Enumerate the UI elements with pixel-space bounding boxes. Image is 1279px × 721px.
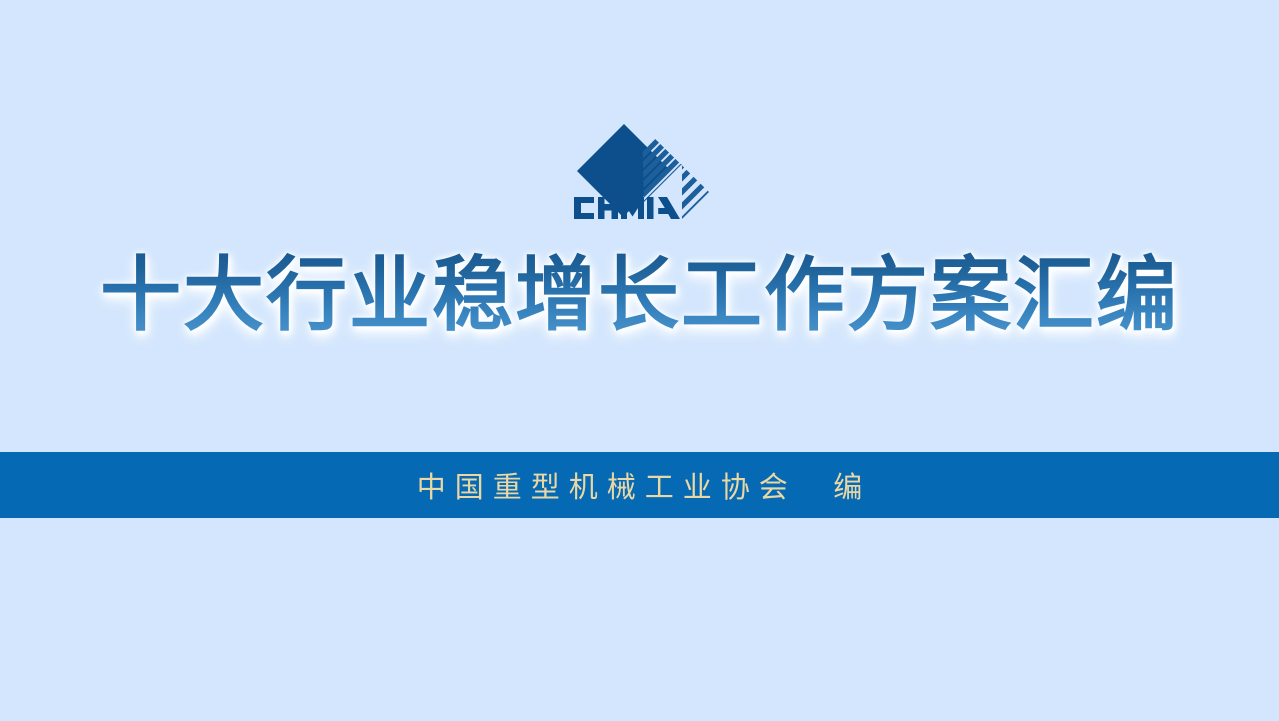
chmia-logo xyxy=(566,122,714,228)
title-slide: 十大行业稳增长工作方案汇编 中国重型机械工业协会 编 xyxy=(0,0,1279,721)
publisher-band-inner: 中国重型机械工业协会 编 xyxy=(0,452,1279,518)
publisher-label: 中国重型机械工业协会 编 xyxy=(408,464,871,506)
page-title: 十大行业稳增长工作方案汇编 xyxy=(100,252,1179,339)
chmia-logo-icon xyxy=(566,122,714,228)
logo-wordmark xyxy=(574,197,680,219)
title-area: 十大行业稳增长工作方案汇编 xyxy=(0,236,1279,356)
publisher-band: 中国重型机械工业协会 编 xyxy=(0,452,1279,518)
